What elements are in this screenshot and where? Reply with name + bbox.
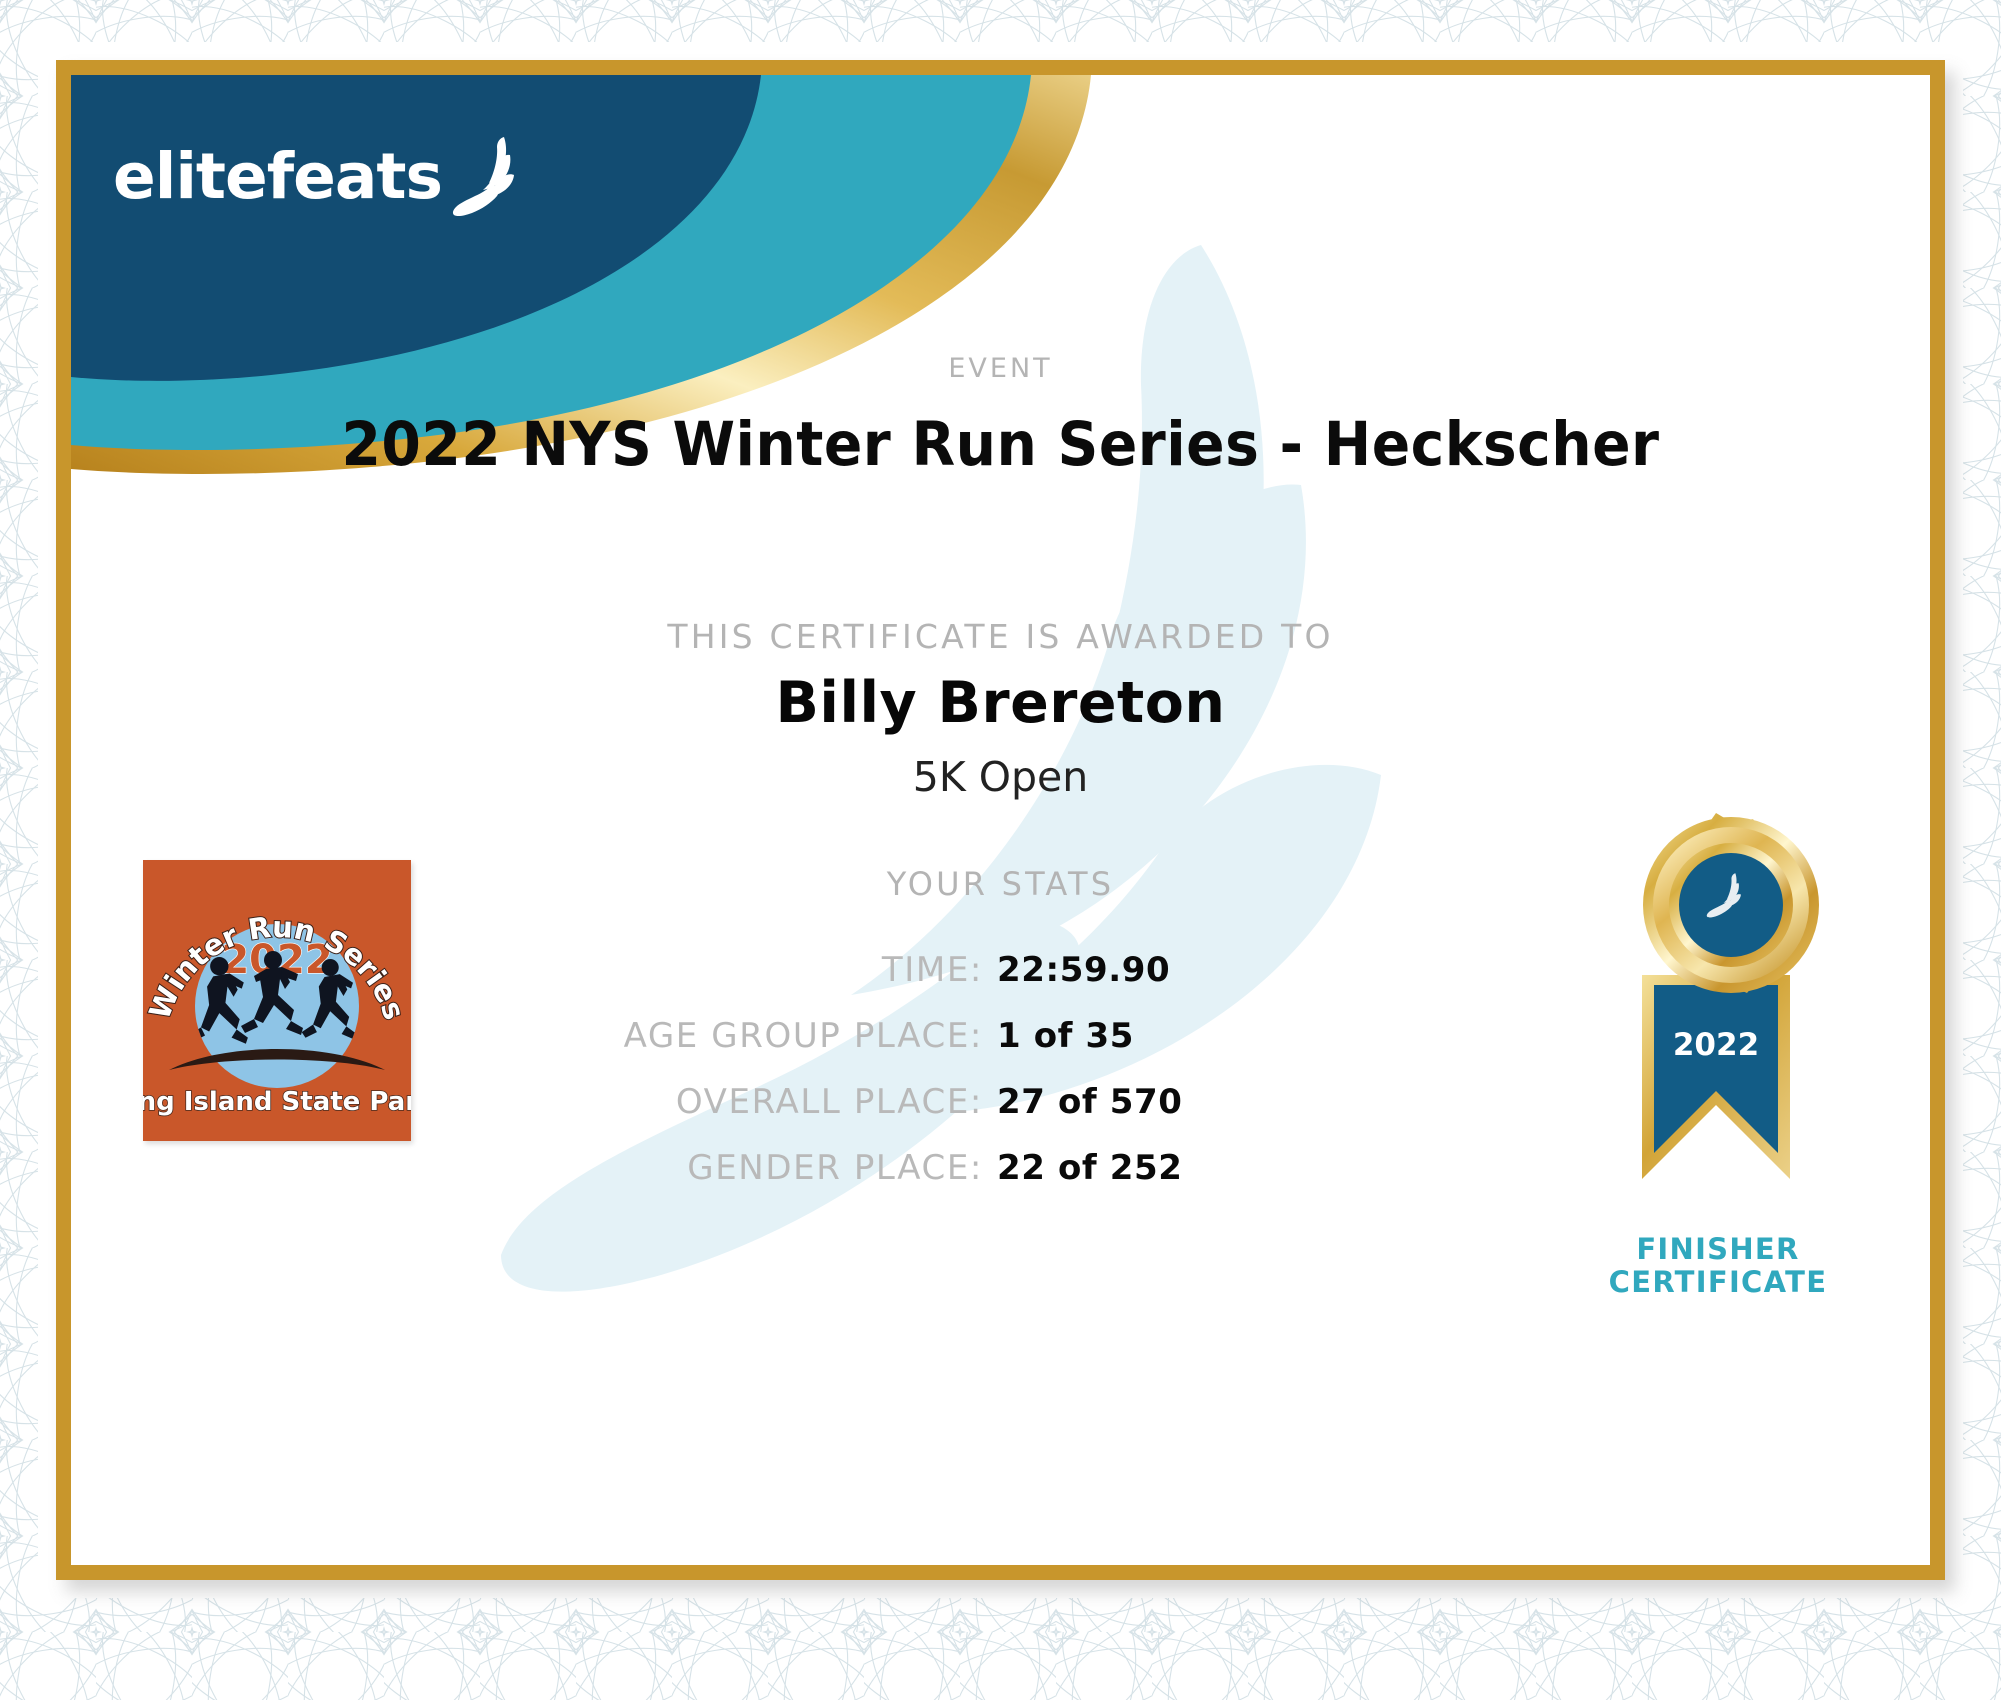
stat-value: 1 of 35	[983, 1016, 1134, 1056]
awarded-to-label: THIS CERTIFICATE IS AWARDED TO	[71, 617, 1930, 656]
event-logo-winter-run-series: 2022	[143, 860, 411, 1141]
stat-value: 22:59.90	[983, 950, 1170, 990]
certificate-content: EVENT 2022 NYS Winter Run Series - Hecks…	[71, 75, 1930, 1565]
medal-disc	[1643, 813, 1819, 993]
division-label: 5K Open	[71, 753, 1930, 801]
finisher-caption-line1: FINISHER	[1568, 1233, 1868, 1266]
finisher-certificate-caption: FINISHER CERTIFICATE	[1568, 1233, 1868, 1299]
event-logo-bottom-text: Long Island State Parks	[143, 1087, 411, 1117]
ribbon-year: 2022	[1673, 1027, 1759, 1063]
recipient-name: Billy Brereton	[71, 670, 1930, 736]
finisher-medal-badge: 2022	[1586, 805, 1846, 1260]
stat-value: 27 of 570	[983, 1082, 1183, 1122]
stat-value: 22 of 252	[983, 1148, 1183, 1188]
stat-label: GENDER PLACE:	[71, 1148, 983, 1188]
finisher-caption-line2: CERTIFICATE	[1568, 1266, 1868, 1299]
certificate-page: elitefeats EVENT 2	[0, 0, 2001, 1700]
event-kicker-label: EVENT	[71, 353, 1930, 384]
event-title: 2022 NYS Winter Run Series - Heckscher	[136, 409, 1865, 480]
ribbon-body	[1654, 985, 1778, 1153]
certificate-card: elitefeats EVENT 2	[56, 60, 1945, 1580]
